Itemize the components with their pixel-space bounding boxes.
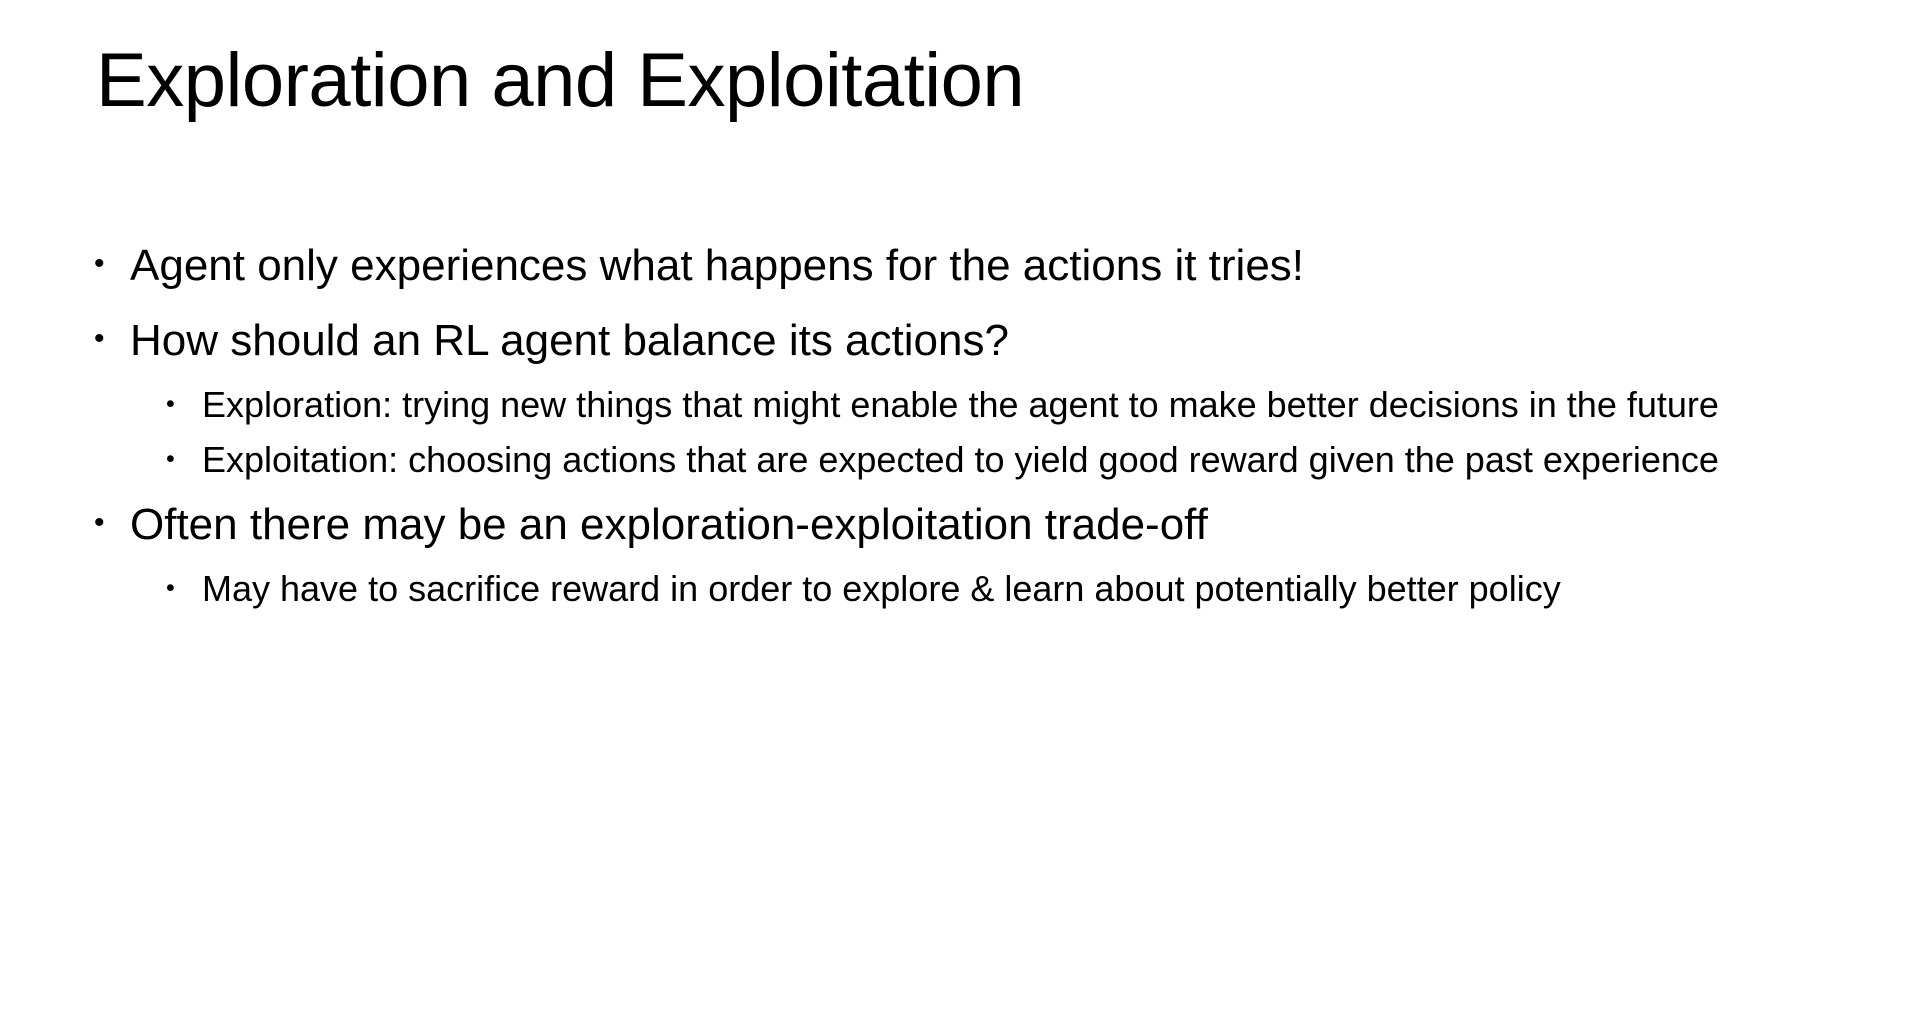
list-item: • Exploration: trying new things that mi… — [88, 382, 1848, 428]
page-title: Exploration and Exploitation — [96, 38, 1826, 123]
presentation-slide: Exploration and Exploitation • Agent onl… — [0, 0, 1920, 1026]
list-item: • Exploitation: choosing actions that ar… — [88, 437, 1848, 483]
bullet-icon: • — [160, 382, 202, 428]
list-item-label: May have to sacrifice reward in order to… — [202, 566, 1777, 612]
bullet-icon: • — [160, 437, 202, 483]
list-item: • May have to sacrifice reward in order … — [88, 566, 1848, 612]
bullet-icon: • — [88, 315, 130, 364]
list-item-label: Exploitation: choosing actions that are … — [202, 437, 1777, 483]
bullet-icon: • — [88, 499, 130, 548]
list-item-label: How should an RL agent balance its actio… — [130, 315, 1848, 366]
bullet-icon: • — [160, 566, 202, 612]
slide-body-content: • Agent only experiences what happens fo… — [88, 240, 1848, 614]
list-item: • How should an RL agent balance its act… — [88, 315, 1848, 366]
list-item-label: Often there may be an exploration-exploi… — [130, 499, 1848, 550]
list-item: • Often there may be an exploration-expl… — [88, 499, 1848, 550]
list-item-label: Exploration: trying new things that migh… — [202, 382, 1777, 428]
list-item-label: Agent only experiences what happens for … — [130, 240, 1848, 291]
spacer — [88, 301, 1848, 315]
list-item: • Agent only experiences what happens fo… — [88, 240, 1848, 291]
bullet-icon: • — [88, 240, 130, 289]
spacer — [88, 485, 1848, 499]
